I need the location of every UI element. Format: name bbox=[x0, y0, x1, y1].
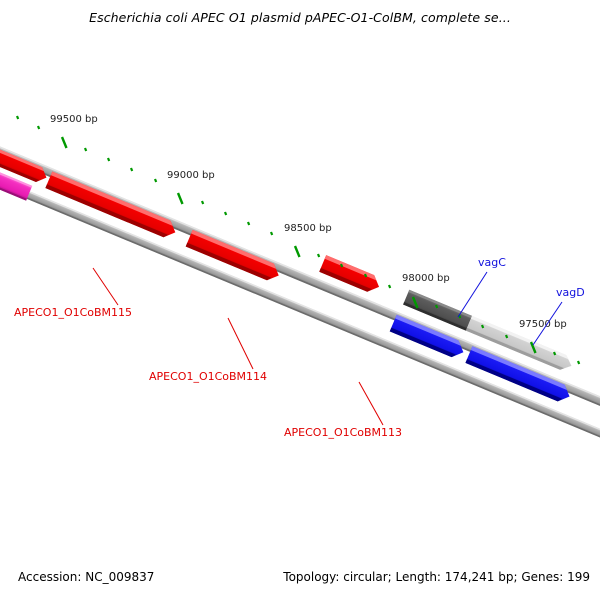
ruler-label-0: 99500 bp bbox=[50, 114, 98, 125]
minor-tick-7 bbox=[225, 212, 226, 215]
minor-tick-4 bbox=[131, 168, 132, 171]
window-title-bar: Escherichia coli APEC O1 plasmid pAPEC-O… bbox=[0, 0, 600, 34]
ruler-label-4: 97500 bp bbox=[519, 319, 567, 330]
minor-tick-14 bbox=[436, 305, 437, 308]
major-tick-1 bbox=[178, 193, 183, 204]
minor-tick-16 bbox=[482, 325, 483, 328]
accession-text: Accession: NC_009837 bbox=[18, 570, 154, 584]
minor-tick-12 bbox=[365, 274, 366, 277]
gene-label-vagc[interactable]: vagC bbox=[478, 256, 506, 269]
gene-label-vagd[interactable]: vagD bbox=[556, 286, 585, 299]
minor-tick-17 bbox=[506, 335, 507, 338]
genome-map-canvas[interactable]: 99500 bp99000 bp98500 bp98000 bp97500 bp… bbox=[0, 34, 600, 558]
gene-label-apeco1-113[interactable]: APECO1_O1CoBM113 bbox=[284, 426, 402, 439]
page-title: Escherichia coli APEC O1 plasmid pAPEC-O… bbox=[89, 10, 511, 25]
gene-label-apeco1-114[interactable]: APECO1_O1CoBM114 bbox=[149, 370, 267, 383]
ruler-label-1: 99000 bp bbox=[167, 170, 215, 181]
minor-tick-1 bbox=[38, 126, 39, 129]
minor-tick-11 bbox=[341, 264, 342, 267]
leader-line-115 bbox=[93, 268, 118, 305]
ruler-label-3: 98000 bp bbox=[402, 273, 450, 284]
minor-tick-5 bbox=[155, 179, 156, 182]
status-bar: Accession: NC_009837 Topology: circular;… bbox=[0, 558, 600, 600]
gene-label-layer: APECO1_O1CoBM115 APECO1_O1CoBM114 APECO1… bbox=[14, 256, 585, 439]
ruler-label-2: 98500 bp bbox=[284, 223, 332, 234]
minor-tick-2 bbox=[85, 148, 86, 151]
gene-red-114[interactable] bbox=[186, 230, 282, 284]
minor-tick-13 bbox=[389, 285, 390, 288]
minor-tick-0 bbox=[17, 116, 18, 119]
gene-body bbox=[186, 230, 282, 284]
topology-summary-text: Topology: circular; Length: 174,241 bp; … bbox=[283, 570, 590, 584]
leader-line-113 bbox=[359, 382, 383, 425]
minor-tick-10 bbox=[318, 254, 319, 257]
minor-tick-19 bbox=[578, 361, 579, 364]
minor-tick-8 bbox=[248, 222, 249, 225]
genome-viewer-window: Escherichia coli APEC O1 plasmid pAPEC-O… bbox=[0, 0, 600, 600]
minor-tick-6 bbox=[202, 201, 203, 204]
major-tick-2 bbox=[295, 246, 300, 257]
minor-tick-18 bbox=[554, 352, 555, 355]
genome-backbone[interactable] bbox=[0, 140, 600, 444]
minor-tick-9 bbox=[271, 232, 272, 235]
gene-label-apeco1-115[interactable]: APECO1_O1CoBM115 bbox=[14, 306, 132, 319]
leader-line-vagc bbox=[458, 272, 487, 317]
major-tick-0 bbox=[62, 137, 67, 148]
minor-tick-3 bbox=[108, 158, 109, 161]
leader-line-114 bbox=[228, 318, 253, 369]
